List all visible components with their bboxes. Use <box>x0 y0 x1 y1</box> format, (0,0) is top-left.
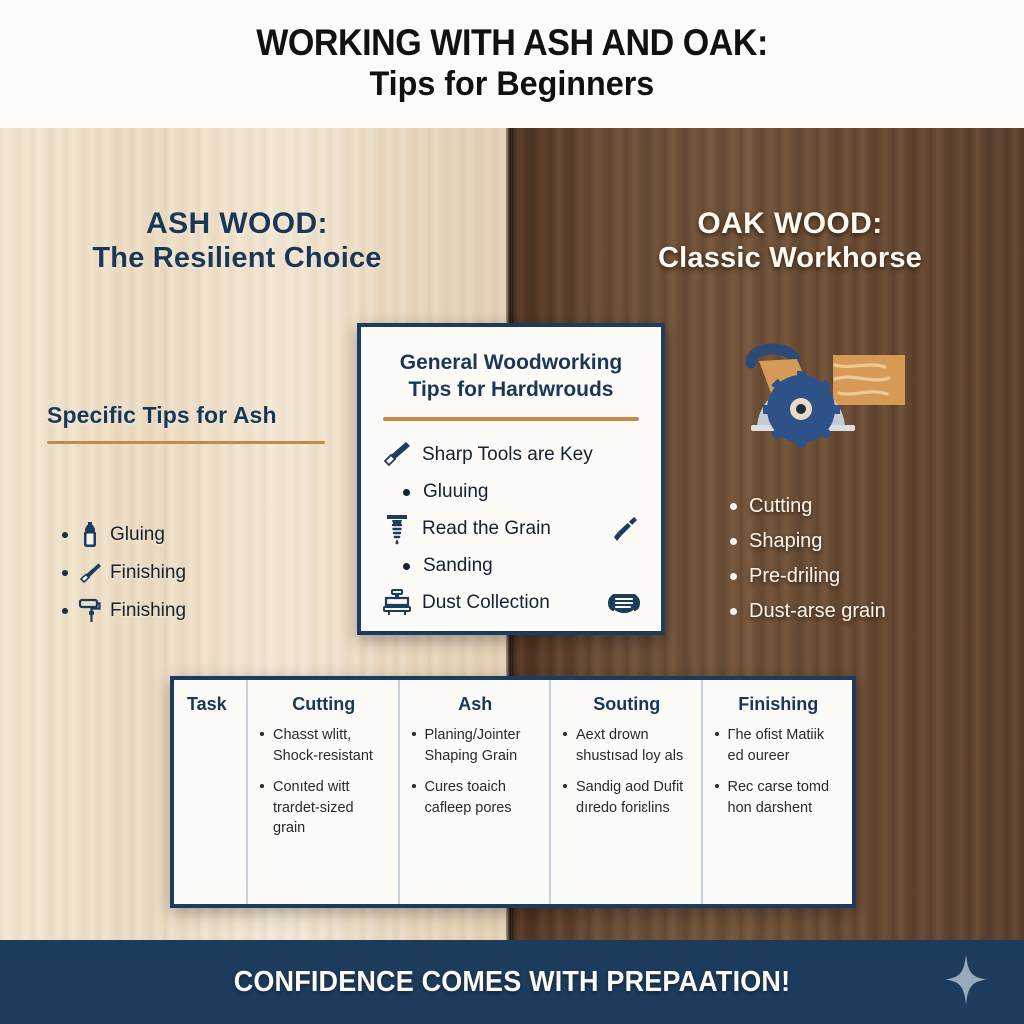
paint-roller-icon <box>77 596 103 626</box>
bullet-dot <box>730 608 737 615</box>
table-column-header: Souting <box>562 694 692 715</box>
list-item[interactable]: Dust Collection <box>381 585 641 622</box>
bullet-dot <box>730 538 737 545</box>
ash-heading-line1: ASH WOOD: <box>22 206 452 241</box>
table-column-cutting: Cutting Chasst wlitt, Shock-resistant Co… <box>248 680 400 904</box>
table-cell-list: Planing/Jointer Shaping Grain Cures toai… <box>411 725 541 818</box>
bullet-dot <box>403 489 410 496</box>
table-column-header: Finishing <box>714 694 844 715</box>
table-cell: Chasst wlitt, Shock-resistant <box>259 725 389 766</box>
four-point-star-icon <box>944 954 988 1011</box>
ash-section-heading: ASH WOOD: The Resilient Choice <box>22 206 452 276</box>
clamp-icon <box>381 587 413 619</box>
oak-tips-list: Cutting Shaping Pre-driling Dust-arse gr… <box>730 489 886 629</box>
bullet-dot <box>730 503 737 510</box>
list-item[interactable]: Read the Grain <box>381 511 641 548</box>
table-column-task: Task <box>174 680 248 904</box>
oak-section-heading: OAK WOOD: Classic Workhorse <box>590 206 990 276</box>
bullet-dot <box>62 532 68 538</box>
general-tips-title-line1: General Woodworking <box>381 349 641 376</box>
pencil-icon <box>607 513 641 545</box>
table-cell-list: Aext drown shustısad loy als Sandig aod … <box>562 725 692 818</box>
face-mask-icon <box>607 587 641 619</box>
table-cell: Rec carse tomd hon darshent <box>714 777 844 818</box>
banner-text: CONFIDENCE COMES WITH PREPAATION! <box>36 966 988 999</box>
list-item-label: Gluing <box>110 524 165 546</box>
ash-subheading-block: Specific Tips for Ash <box>47 402 337 444</box>
general-tips-card: General Woodworking Tips for Hardwrouds … <box>357 323 665 635</box>
table-column-souting: Souting Aext drown shustısad loy als San… <box>551 680 703 904</box>
list-item-label: Pre-driling <box>749 565 840 588</box>
bullet-dot <box>730 573 737 580</box>
ash-tips-list: Gluing Finishing Finis <box>62 516 186 630</box>
list-item-label: Sharp Tools are Key <box>422 444 593 466</box>
glue-bottle-icon <box>77 520 103 550</box>
chisel-icon <box>381 439 413 471</box>
list-item[interactable]: Cutting <box>730 489 886 524</box>
table-cell: Γhe ofist Matiik ed oureer <box>714 725 844 766</box>
list-item-label: Sanding <box>423 555 493 577</box>
list-item-label: Cutting <box>749 495 812 518</box>
table-column-finishing: Finishing Γhe ofist Matiik ed oureer Rec… <box>703 680 853 904</box>
table-column-ash: Ash Planing/Jointer Shaping Grain Cures … <box>400 680 552 904</box>
list-item[interactable]: Pre-driling <box>730 559 886 594</box>
ash-heading-line2: The Resilient Choice <box>22 241 452 275</box>
general-tips-list: Sharp Tools are Key Gluuing Read the Gra… <box>381 437 641 622</box>
general-tips-underline <box>383 417 639 421</box>
table-cell: Sandig aod Dufit dıredo foriɛlins <box>562 777 692 818</box>
oak-heading-line1: OAK WOOD: <box>590 206 990 241</box>
chisel-icon <box>77 558 103 588</box>
table-cell: Aext drown shustısad loy als <box>562 725 692 766</box>
poster-title-bar: WORKING WITH ASH AND OAK: Tips for Begin… <box>0 0 1024 128</box>
poster-title-line1: WORKING WITH ASH AND OAK: <box>256 23 768 63</box>
list-item[interactable]: Gluuing <box>381 474 641 511</box>
table-cell-list: Γhe ofist Matiik ed oureer Rec carse tom… <box>714 725 844 818</box>
comparison-table: Task Cutting Chasst wlitt, Shock-resista… <box>170 676 856 908</box>
bullet-dot <box>62 608 68 614</box>
list-item[interactable]: Finishing <box>62 592 186 630</box>
table-column-header: Task <box>185 694 237 715</box>
list-item[interactable]: Gluing <box>62 516 186 554</box>
list-item[interactable]: Dust-arse grain <box>730 594 886 629</box>
bullet-dot <box>62 570 68 576</box>
list-item[interactable]: Sharp Tools are Key <box>381 437 641 474</box>
ash-subheading-underline <box>47 441 325 444</box>
list-item[interactable]: Shaping <box>730 524 886 559</box>
list-item-label: Shaping <box>749 530 822 553</box>
oak-heading-line2: Classic Workhorse <box>590 241 990 275</box>
table-cell-list: Chasst wlitt, Shock-resistant Conıted wi… <box>259 725 389 839</box>
table-cell: Cures toaich cafleep pores <box>411 777 541 818</box>
list-item[interactable]: Sanding <box>381 548 641 585</box>
table-column-header: Ash <box>411 694 541 715</box>
list-item-label: Dust-arse grain <box>749 600 886 623</box>
list-item-label: Finishing <box>110 600 186 622</box>
list-item[interactable]: Finishing <box>62 554 186 592</box>
general-tips-title-line2: Tips for Hardwrouds <box>381 376 641 403</box>
bullet-dot <box>403 563 410 570</box>
table-column-header: Cutting <box>259 694 389 715</box>
circular-saw-icon <box>735 337 915 449</box>
general-tips-title: General Woodworking Tips for Hardwrouds <box>381 349 641 404</box>
list-item-label: Finishing <box>110 562 186 584</box>
list-item-label: Dust Collection <box>422 592 550 614</box>
list-item-label: Gluuing <box>423 481 489 503</box>
table-cell: Conıted witt trardet-sized grain <box>259 777 389 839</box>
poster-title-line2: Tips for Beginners <box>370 63 655 106</box>
table-cell: Planing/Jointer Shaping Grain <box>411 725 541 766</box>
bottom-banner: CONFIDENCE COMES WITH PREPAATION! <box>0 940 1024 1024</box>
list-item-label: Read the Grain <box>422 518 551 540</box>
ash-subheading: Specific Tips for Ash <box>47 402 337 429</box>
screw-icon <box>381 513 413 545</box>
infographic-poster: WORKING WITH ASH AND OAK: Tips for Begin… <box>0 0 1024 1024</box>
